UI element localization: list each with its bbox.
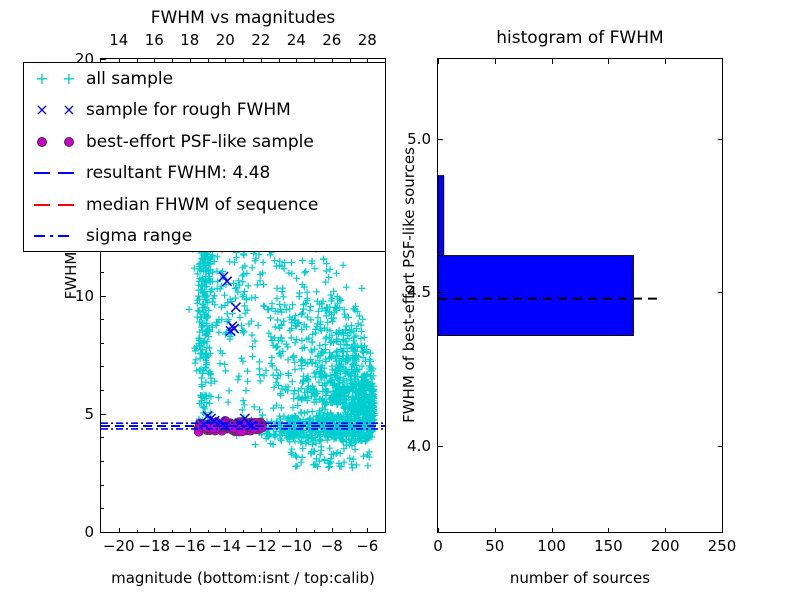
tick-mark: [367, 528, 368, 533]
histogram-of-fwhm-axes: [437, 58, 723, 533]
tick-mark: [101, 461, 104, 462]
tick-mark: [438, 139, 443, 140]
tick-label: 4.5: [407, 283, 431, 301]
tick-mark: [119, 528, 120, 533]
tick-mark: [243, 530, 244, 533]
tick-label: 50: [485, 537, 504, 555]
tick-mark: [154, 528, 155, 533]
tick-label: 14: [109, 31, 128, 49]
tick-mark: [665, 59, 666, 64]
tick-label: 26: [322, 31, 341, 49]
tick-mark: [101, 366, 104, 367]
tick-label: −20: [103, 537, 135, 555]
legend-marker-sigma-range: [24, 221, 86, 253]
tick-mark: [137, 530, 138, 533]
tick-mark: [101, 296, 106, 297]
tick-mark: [350, 530, 351, 533]
legend-label: sigma range: [86, 226, 192, 246]
tick-mark: [101, 343, 104, 344]
tick-mark: [438, 528, 439, 533]
tick-mark: [101, 390, 104, 391]
legend-label: sample for rough FWHM: [86, 100, 291, 120]
matplotlib-figure: FWHM vs magnitudes magnitude (bottom:isn…: [0, 0, 800, 600]
tick-mark: [722, 528, 723, 533]
legend-item: resultant FWHM: 4.48: [24, 158, 385, 190]
tick-label: 5: [84, 405, 94, 423]
tick-label: 4.0: [407, 437, 431, 455]
tick-label: −16: [174, 537, 206, 555]
tick-label: 150: [594, 537, 623, 555]
tick-mark: [608, 528, 609, 533]
tick-label: 250: [708, 537, 737, 555]
tick-mark: [332, 528, 333, 533]
legend-marker-all-sample: + +: [24, 63, 86, 95]
tick-label: 24: [287, 31, 306, 49]
tick-mark: [101, 532, 106, 533]
tick-mark: [552, 59, 553, 64]
legend-label: resultant FWHM: 4.48: [86, 163, 270, 183]
tick-label: 0: [433, 537, 443, 555]
tick-mark: [718, 292, 723, 293]
legend-item: best-effort PSF-like sample: [24, 126, 385, 158]
tick-label: 18: [180, 31, 199, 49]
tick-label: 100: [537, 537, 566, 555]
tick-mark: [101, 437, 104, 438]
tick-mark: [665, 528, 666, 533]
tick-label: −8: [321, 537, 343, 555]
tick-label: −14: [209, 537, 241, 555]
tick-mark: [172, 530, 173, 533]
tick-label: −6: [356, 537, 378, 555]
tick-mark: [190, 528, 191, 533]
tick-label: 0: [84, 523, 94, 541]
legend: + + all sample × × sample for rough FWHM…: [23, 62, 386, 252]
legend-item: + + all sample: [24, 63, 385, 95]
tick-mark: [101, 508, 104, 509]
legend-marker-median-fwhm: [24, 189, 86, 221]
legend-marker-psf-like: [24, 126, 86, 158]
tick-label: 20: [216, 31, 235, 49]
tick-mark: [296, 528, 297, 533]
tick-mark: [608, 59, 609, 64]
tick-mark: [438, 292, 443, 293]
tick-mark: [552, 528, 553, 533]
legend-label: best-effort PSF-like sample: [86, 132, 314, 152]
legend-item: × × sample for rough FWHM: [24, 95, 385, 127]
tick-label: 5.0: [407, 130, 431, 148]
right-panel-title: histogram of FWHM: [437, 28, 723, 48]
tick-mark: [261, 528, 262, 533]
legend-item: sigma range: [24, 221, 385, 253]
tick-label: 10: [75, 287, 94, 305]
tick-mark: [718, 139, 723, 140]
tick-mark: [101, 59, 106, 60]
tick-mark: [495, 528, 496, 533]
tick-mark: [208, 530, 209, 533]
tick-label: 28: [358, 31, 377, 49]
tick-mark: [279, 530, 280, 533]
tick-mark: [438, 59, 439, 64]
tick-label: 16: [145, 31, 164, 49]
tick-mark: [722, 59, 723, 64]
tick-mark: [438, 446, 443, 447]
legend-marker-resultant-fwhm: [24, 158, 86, 190]
legend-item: median FHWM of sequence: [24, 189, 385, 221]
tick-mark: [718, 446, 723, 447]
tick-mark: [101, 272, 104, 273]
tick-mark: [314, 530, 315, 533]
tick-mark: [101, 414, 106, 415]
tick-mark: [101, 319, 104, 320]
tick-label: −18: [138, 537, 170, 555]
tick-label: −12: [245, 537, 277, 555]
legend-label: median FHWM of sequence: [86, 195, 318, 215]
tick-mark: [225, 528, 226, 533]
tick-label: 22: [251, 31, 270, 49]
legend-marker-rough-fwhm: × ×: [24, 95, 86, 127]
right-panel-xlabel: number of sources: [437, 569, 723, 587]
left-panel-xlabel: magnitude (bottom:isnt / top:calib): [100, 569, 386, 587]
left-panel-title: FWHM vs magnitudes: [100, 8, 386, 28]
tick-label: −10: [280, 537, 312, 555]
tick-mark: [495, 59, 496, 64]
tick-mark: [101, 485, 104, 486]
tick-label: 200: [651, 537, 680, 555]
legend-label: all sample: [86, 69, 173, 89]
